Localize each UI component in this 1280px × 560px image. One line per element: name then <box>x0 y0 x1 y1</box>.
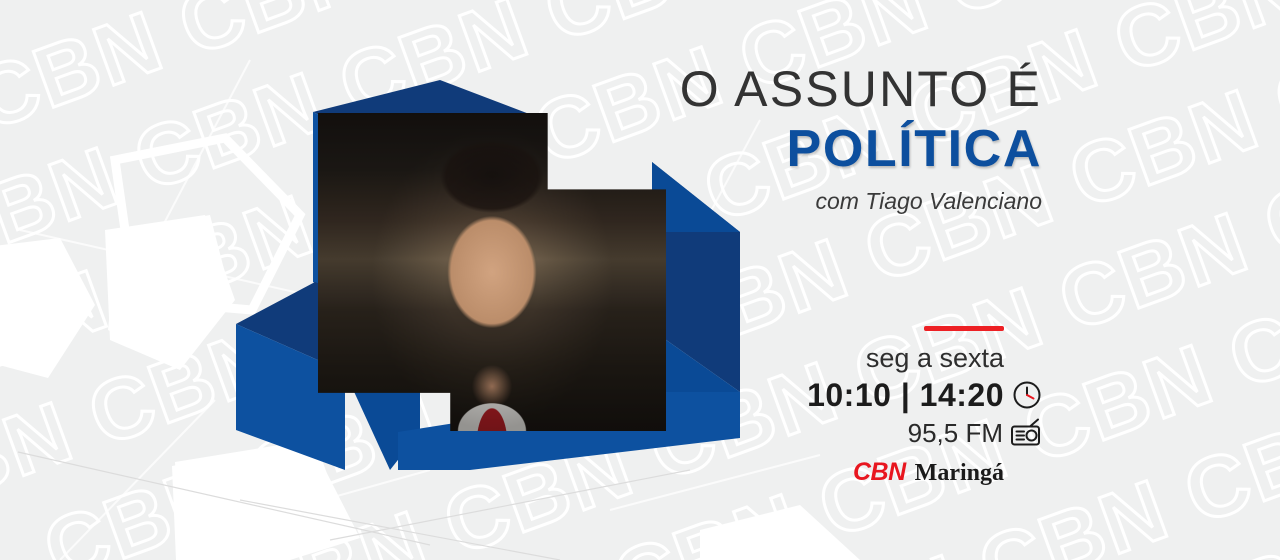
program-title-line1: O ASSUNTO É <box>680 60 1042 118</box>
schedule-block: seg a sexta 10:10 | 14:20 95,5 FM <box>742 326 1042 487</box>
program-banner: CBN CBN CBN CBN CBN CBN CBN CBN CBN CBN … <box>0 0 1280 560</box>
program-title-block: O ASSUNTO É POLÍTICA com Tiago Valencian… <box>680 60 1042 216</box>
radio-icon <box>1010 418 1042 448</box>
station-logo: CBN Maringá <box>742 458 1004 487</box>
program-title-line2: POLÍTICA <box>680 120 1042 178</box>
red-divider-bar <box>924 326 1004 331</box>
broadcast-days: seg a sexta <box>742 342 1004 374</box>
program-host-credit: com Tiago Valenciano <box>680 186 1042 216</box>
station-network-name: CBN <box>853 458 906 486</box>
station-city-name: Maringá <box>915 459 1004 487</box>
radio-frequency: 95,5 FM <box>908 417 1003 449</box>
broadcast-times: 10:10 | 14:20 <box>807 377 1004 413</box>
broadcast-times-row: 10:10 | 14:20 <box>742 377 1042 413</box>
frequency-row: 95,5 FM <box>742 417 1042 449</box>
clock-icon <box>1012 380 1042 410</box>
